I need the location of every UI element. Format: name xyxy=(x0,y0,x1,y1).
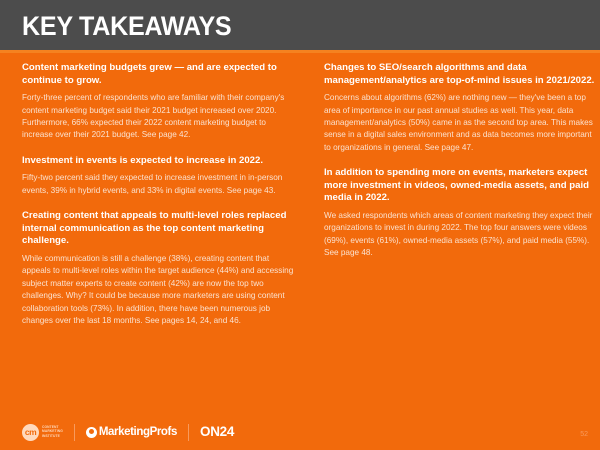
takeaway-body: Concerns about algorithms (62%) are noth… xyxy=(324,92,600,154)
takeaway-body: While communication is still a challenge… xyxy=(22,253,298,327)
header-bar: KEY TAKEAWAYS xyxy=(0,0,600,50)
takeaway-heading: Creating content that appeals to multi-l… xyxy=(22,210,298,248)
logo-divider xyxy=(188,424,189,441)
content-marketing-institute-logo: cm CONTENT MARKETING INSTITUTE xyxy=(22,424,63,441)
marketingprofs-wordmark: MarketingProfs xyxy=(99,426,177,438)
takeaway-block: Creating content that appeals to multi-l… xyxy=(22,210,298,327)
right-column: Changes to SEO/search algorithms and dat… xyxy=(324,62,600,327)
takeaway-heading: Content marketing budgets grew — and are… xyxy=(22,62,298,87)
takeaway-body: Fifty-two percent said they expected to … xyxy=(22,172,298,197)
footer: cm CONTENT MARKETING INSTITUTE Marketing… xyxy=(0,414,600,450)
takeaway-block: Investment in events is expected to incr… xyxy=(22,155,298,197)
cmi-wordmark: CONTENT MARKETING INSTITUTE xyxy=(42,426,63,439)
takeaway-heading: Investment in events is expected to incr… xyxy=(22,155,298,168)
on24-logo: ON24 xyxy=(200,425,234,439)
slide: KEY TAKEAWAYS Content marketing budgets … xyxy=(0,0,600,450)
takeaway-heading: In addition to spending more on events, … xyxy=(324,167,600,205)
marketingprofs-logo: MarketingProfs xyxy=(86,426,177,438)
cmi-wordmark-line3: INSTITUTE xyxy=(42,435,63,439)
takeaway-block: Changes to SEO/search algorithms and dat… xyxy=(324,62,600,154)
marketingprofs-circle-icon xyxy=(86,427,97,438)
logo-divider xyxy=(74,424,75,441)
takeaway-body: Forty-three percent of respondents who a… xyxy=(22,92,298,142)
header-accent-rule xyxy=(0,50,600,53)
cmi-badge-icon: cm xyxy=(22,424,39,441)
takeaway-heading: Changes to SEO/search algorithms and dat… xyxy=(324,62,600,87)
takeaway-block: Content marketing budgets grew — and are… xyxy=(22,62,298,142)
content-columns: Content marketing budgets grew — and are… xyxy=(0,62,600,327)
takeaway-block: In addition to spending more on events, … xyxy=(324,167,600,259)
takeaway-body: We asked respondents which areas of cont… xyxy=(324,210,600,260)
page-title: KEY TAKEAWAYS xyxy=(22,11,231,41)
left-column: Content marketing budgets grew — and are… xyxy=(22,62,298,327)
logo-group: cm CONTENT MARKETING INSTITUTE Marketing… xyxy=(22,420,234,444)
page-number: 52 xyxy=(580,431,588,439)
